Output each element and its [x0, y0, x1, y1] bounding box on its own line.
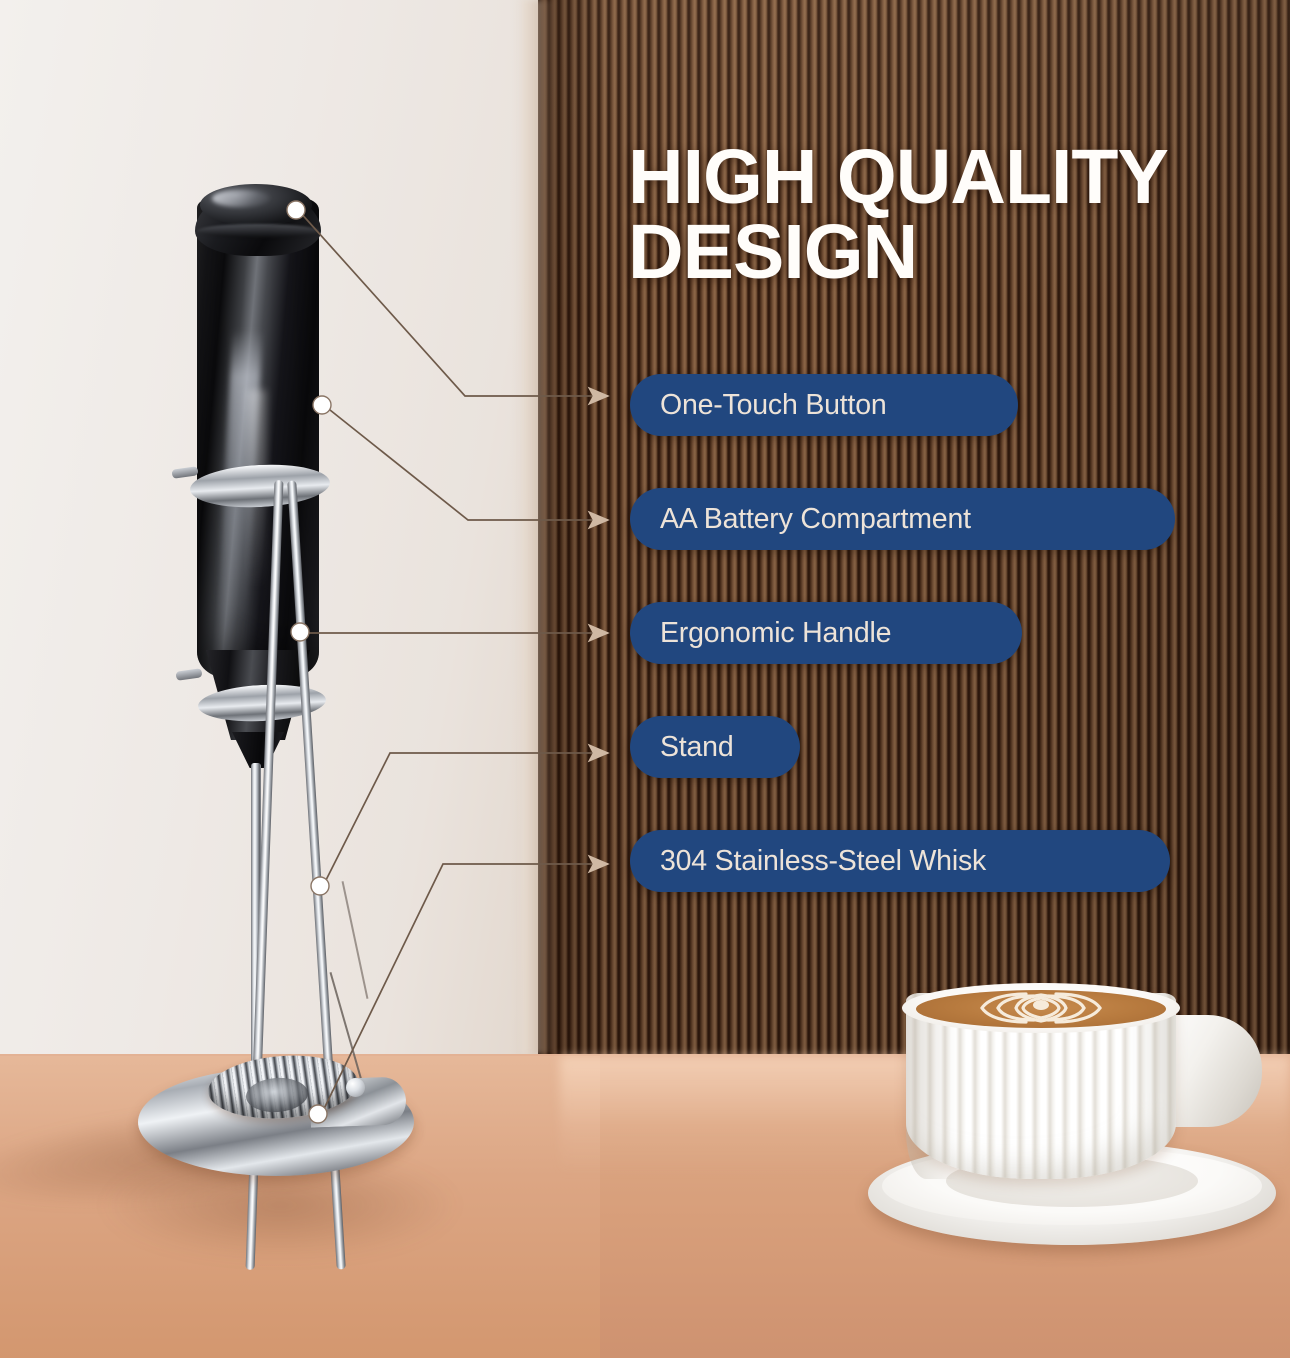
callout-pill-one-touch-button[interactable]: One-Touch Button — [630, 374, 1018, 436]
frother-cap-seam — [197, 224, 319, 238]
frother-body-sheen-2 — [248, 390, 266, 640]
stand-nub-top — [172, 466, 199, 479]
product-infographic: HIGH QUALITY DESIGN — [0, 0, 1290, 1358]
callout-label: 304 Stainless-Steel Whisk — [660, 845, 986, 878]
callout-label: AA Battery Compartment — [660, 503, 971, 536]
callout-pill-stand[interactable]: Stand — [630, 716, 800, 778]
callout-pill-battery-compartment[interactable]: AA Battery Compartment — [630, 488, 1175, 550]
page-title: HIGH QUALITY DESIGN — [628, 140, 1228, 291]
callout-pill-stainless-whisk[interactable]: 304 Stainless-Steel Whisk — [630, 830, 1170, 892]
stand-base-knob — [346, 1078, 365, 1097]
coffee-cup-icon — [868, 965, 1288, 1255]
page-title-line-1: HIGH QUALITY — [628, 140, 1228, 215]
page-title-line-2: DESIGN — [628, 215, 1228, 290]
stand-nub-bottom — [176, 668, 203, 681]
callout-pill-ergonomic-handle[interactable]: Ergonomic Handle — [630, 602, 1022, 664]
callout-label: Stand — [660, 731, 733, 764]
rosetta-latte-art-icon — [930, 991, 1152, 1025]
frother-cap-gloss — [212, 190, 270, 207]
wood-edge-blur — [522, 0, 556, 1054]
whisk-wire-2 — [342, 881, 369, 999]
milk-frother-icon — [150, 180, 450, 1240]
callout-label: Ergonomic Handle — [660, 617, 891, 650]
callout-label: One-Touch Button — [660, 389, 887, 422]
